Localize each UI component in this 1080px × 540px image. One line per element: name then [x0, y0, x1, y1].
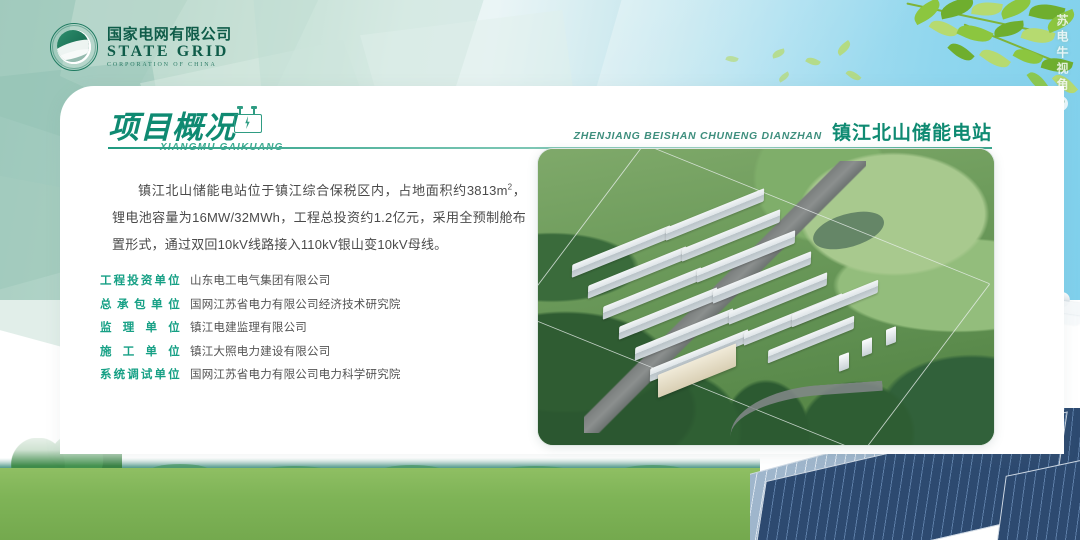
participant-value: 山东电工电气集团有限公司	[190, 272, 330, 288]
list-item: 监理单位 镇江电建监理有限公司	[100, 319, 520, 335]
station-name-cn: 镇江北山储能电站	[832, 118, 992, 145]
participants-list: 工程投资单位 山东电工电气集团有限公司 总承包单位 国网江苏省电力有限公司经济技…	[100, 272, 520, 390]
logo-company-sub: CORPORATION OF CHINA	[107, 62, 232, 68]
participant-label: 工程投资单位	[100, 272, 180, 288]
station-aerial-photo	[537, 148, 995, 446]
battery-bolt-icon	[232, 106, 262, 132]
station-title-block: ZHENJIANG BEISHAN CHUNENG DIANZHAN 镇江北山储…	[574, 118, 992, 145]
participant-label: 监理单位	[100, 319, 180, 335]
logo-company-cn: 国家电网有限公司	[107, 27, 232, 42]
participant-label: 施工单位	[100, 343, 180, 359]
participant-value: 镇江电建监理有限公司	[190, 319, 307, 335]
section-title-block: 项目概况 XIANGMU GAIKUANG	[108, 112, 236, 143]
participant-label: 系统调试单位	[100, 366, 180, 382]
participant-value: 国网江苏省电力有限公司经济技术研究院	[190, 296, 401, 312]
state-grid-globe-icon	[50, 23, 98, 71]
slide-root: 苏电牛视角 国家电网有限公司 STATE GRID CORPORATI	[0, 0, 1080, 540]
station-pinyin: ZHENJIANG BEISHAN CHUNENG DIANZHAN	[574, 130, 822, 145]
watermark-text: 苏电牛视角	[1054, 14, 1071, 94]
list-item: 施工单位 镇江大照电力建设有限公司	[100, 343, 520, 359]
list-item: 总承包单位 国网江苏省电力有限公司经济技术研究院	[100, 296, 520, 312]
list-item: 系统调试单位 国网江苏省电力有限公司电力科学研究院	[100, 366, 520, 382]
state-grid-logo: 国家电网有限公司 STATE GRID CORPORATION OF CHINA	[50, 23, 232, 71]
participant-label: 总承包单位	[100, 296, 180, 312]
overview-text-prefix: 镇江北山储能电站位于镇江综合保税区内，占地面积约3813m	[138, 183, 508, 198]
participant-value: 国网江苏省电力有限公司电力科学研究院	[190, 366, 401, 382]
background-grass	[0, 468, 760, 540]
overview-paragraph: 镇江北山储能电站位于镇江综合保税区内，占地面积约3813m2，锂电池容量为16M…	[112, 178, 526, 258]
logo-company-en: STATE GRID	[107, 44, 232, 60]
participant-value: 镇江大照电力建设有限公司	[190, 343, 330, 359]
section-title-cn: 项目概况	[108, 112, 236, 143]
list-item: 工程投资单位 山东电工电气集团有限公司	[100, 272, 520, 288]
